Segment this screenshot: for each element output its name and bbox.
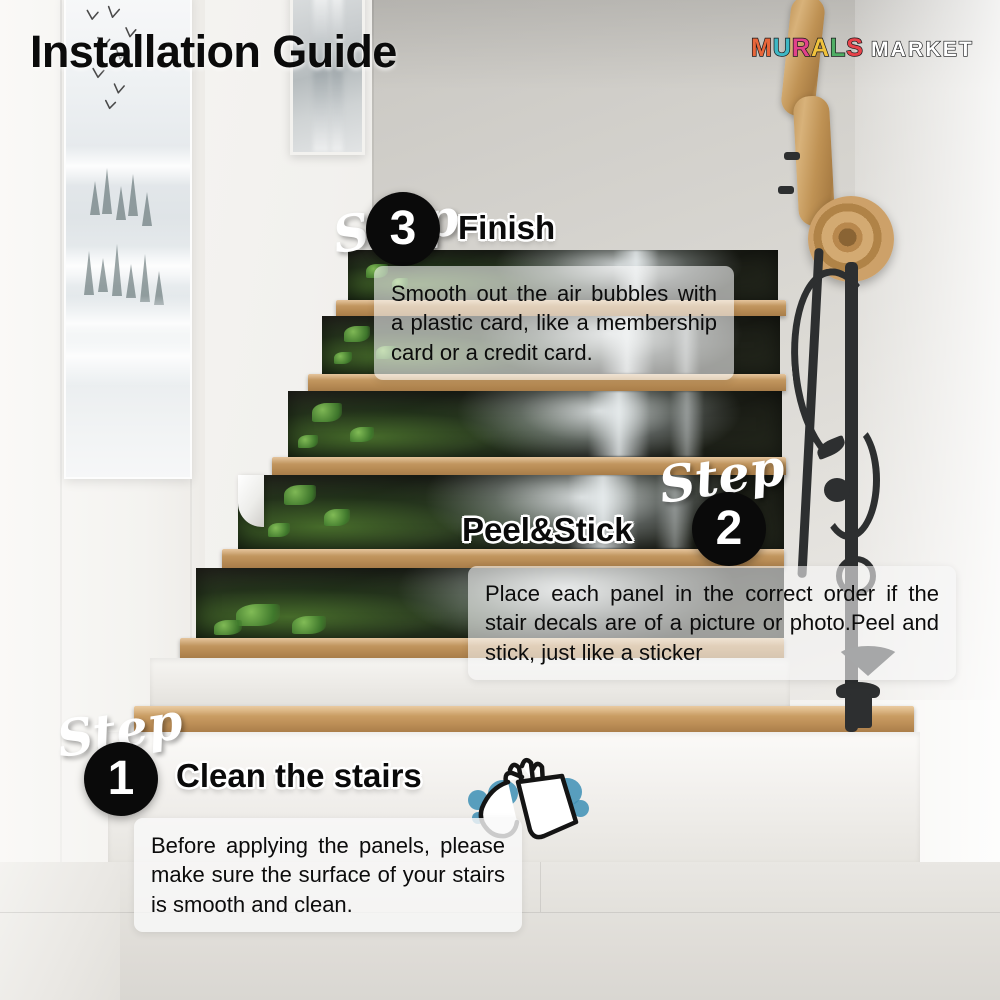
brand-murals: M U R A L S — [751, 34, 864, 63]
brand-letter-u: U — [773, 34, 792, 63]
iron-bracket — [784, 152, 800, 160]
brand-letter-a: A — [811, 34, 830, 63]
page-title: Installation Guide — [30, 26, 397, 78]
bottom-stair-tread — [134, 706, 914, 732]
brand-letter-r: R — [792, 34, 811, 63]
brand-letter-m: M — [751, 34, 773, 63]
step-1-number: 1 — [84, 742, 158, 816]
step-2-body: Place each panel in the correct order if… — [468, 566, 956, 680]
step-3-heading: Finish — [458, 209, 555, 247]
floor-seam — [540, 862, 541, 912]
brand-market: MARKET — [871, 38, 974, 62]
step-2-number: 2 — [692, 492, 766, 566]
brand-letter-s: S — [846, 34, 864, 63]
step-3-body: Smooth out the air bubbles with a plasti… — [374, 266, 734, 380]
floor-corner — [0, 862, 120, 1000]
newel-base — [848, 694, 872, 728]
baluster-scroll — [818, 420, 880, 540]
wall-seam — [60, 0, 62, 1000]
step-1-heading: Clean the stairs — [176, 757, 422, 795]
step-2-heading: Peel&Stick — [462, 511, 633, 549]
stair-riser-mural — [288, 391, 782, 457]
step-1-body: Before applying the panels, please make … — [134, 818, 522, 932]
iron-flower-icon — [824, 478, 850, 502]
step-3-number: 3 — [366, 192, 440, 266]
installation-guide-poster: Installation Guide M U R A L S MARKET St… — [0, 0, 1000, 1000]
brand-logo: M U R A L S MARKET — [751, 34, 974, 63]
iron-bracket — [778, 186, 794, 194]
brand-letter-l: L — [830, 34, 846, 63]
